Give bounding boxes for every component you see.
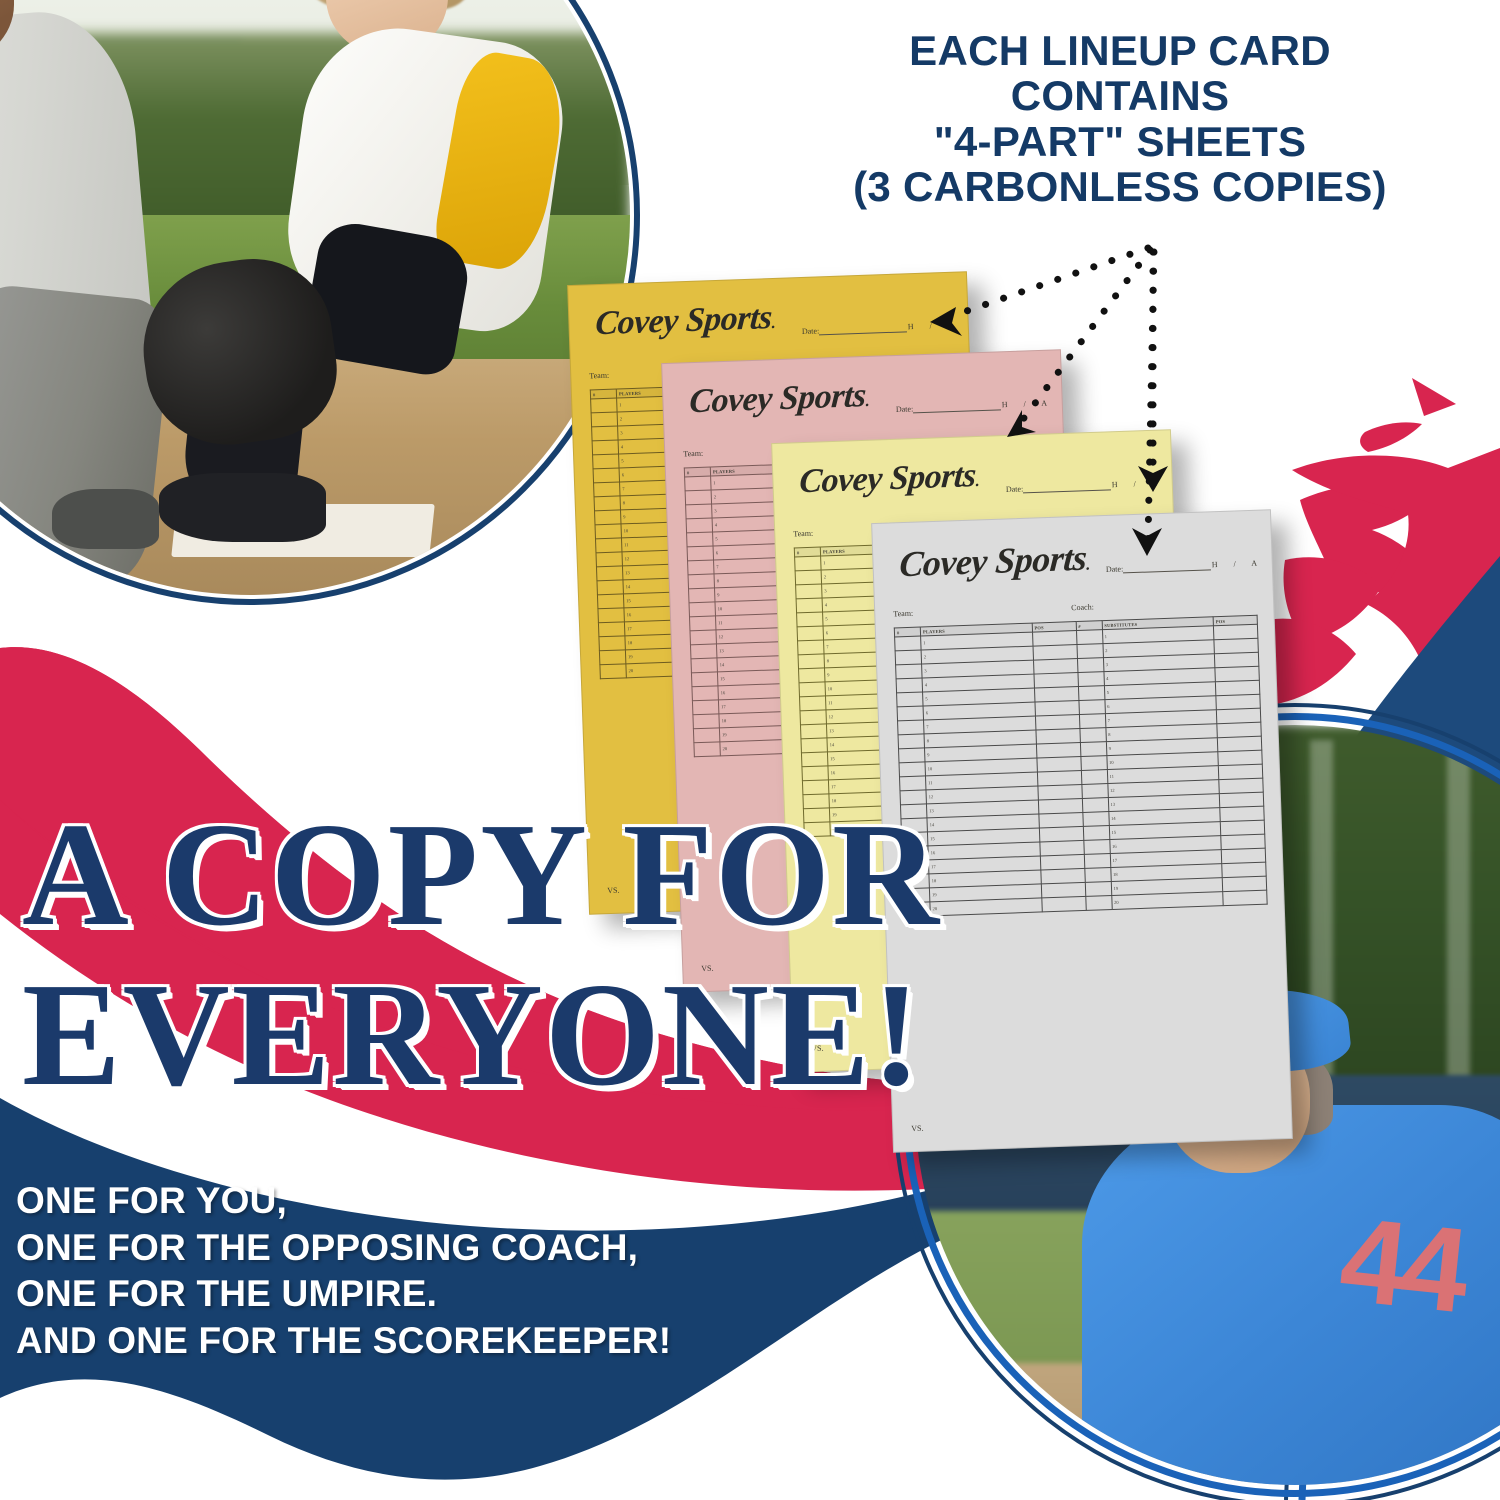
card-row-cell [689, 588, 715, 603]
card-brand-logo: Covey Sports. [898, 536, 1091, 585]
card-row-cell [798, 640, 824, 655]
card-row-cell [694, 742, 720, 757]
benefit-item-2: ONE FOR THE OPPOSING COACH, [16, 1225, 671, 1272]
card-row-cell [899, 776, 925, 791]
card-row-cell [896, 678, 922, 693]
card-row-cell [1078, 686, 1104, 701]
benefit-item-4: AND ONE FOR THE SCOREKEEPER! [16, 1318, 671, 1365]
headline-line-1: A COPY FOR [22, 790, 941, 960]
card-row-cell [1076, 630, 1102, 645]
card-row-cell [1033, 673, 1077, 689]
benefits-list: ONE FOR YOU, ONE FOR THE OPPOSING COACH,… [16, 1178, 671, 1364]
card-row-cell [1079, 728, 1105, 743]
card-vs-field: VS. [911, 1124, 926, 1133]
card-row-cell [898, 734, 924, 749]
card-row-cell [795, 556, 821, 571]
header-line-4: (3 CARBONLESS COPIES) [770, 164, 1470, 209]
card-row-cell [1085, 882, 1111, 897]
card-row-cell [899, 748, 925, 763]
card-team-writeline [813, 529, 815, 538]
card-vs-writeline [923, 1124, 925, 1133]
card-row-cell [1036, 743, 1080, 759]
card-vs-label: VS. [911, 1124, 924, 1133]
card-row-cell [595, 524, 621, 539]
card-brand-period: . [975, 473, 980, 490]
card-row-cell [1219, 778, 1263, 794]
card-row-cell [1083, 826, 1109, 841]
card-row-number: 20 [1111, 892, 1223, 910]
card-row-cell [1082, 812, 1108, 827]
card-row-cell [1084, 868, 1110, 883]
card-brand-logo: Covey Sports. [688, 377, 870, 421]
card-row-cell [593, 454, 619, 469]
card-team-writeline [609, 371, 611, 380]
card-row-cell [1034, 701, 1078, 717]
card-row-cell [693, 714, 719, 729]
card-coach-field: Coach: [1071, 602, 1096, 612]
card-row-cell [1082, 798, 1108, 813]
card-team-writeline [913, 609, 915, 618]
card-row-cell [1084, 854, 1110, 869]
card-row-cell [895, 650, 921, 665]
card-row-cell [1040, 868, 1084, 884]
card-date-label: Date: [802, 326, 820, 336]
card-row-cell [1220, 806, 1264, 822]
card-row-cell [796, 598, 822, 613]
card-team-label: Team: [793, 529, 813, 539]
card-row-cell [688, 574, 714, 589]
card-team-field: Team: [589, 371, 611, 381]
card-row-cell [1078, 700, 1104, 715]
card-row-cell [796, 584, 822, 599]
card-row-cell [1080, 742, 1106, 757]
card-row-cell [689, 602, 715, 617]
card-row-cell [687, 546, 713, 561]
card-row-cell [801, 738, 827, 753]
card-row-cell [591, 412, 617, 427]
card-row-cell [596, 552, 622, 567]
card-brand-logo: Covey Sports. [798, 457, 980, 501]
card-home-away-field: H / A [1112, 478, 1165, 489]
card-row-cell [594, 482, 620, 497]
card-team-field: Team: [793, 529, 815, 539]
card-row-cell [1085, 896, 1111, 911]
card-date-field: Date: [802, 322, 908, 336]
card-row-cell [1039, 826, 1083, 842]
card-row-cell [597, 594, 623, 609]
card-row-cell [593, 468, 619, 483]
card-row-cell [594, 496, 620, 511]
card-row-cell [1222, 862, 1266, 878]
card-row-cell [1080, 756, 1106, 771]
card-date-label: Date: [1106, 564, 1124, 574]
card-row-cell [1083, 840, 1109, 855]
card-date-label: Date: [1006, 484, 1024, 494]
card-home-away-field: H / A [908, 320, 961, 331]
card-row-cell [799, 668, 825, 683]
card-row-cell [690, 630, 716, 645]
benefit-item-3: ONE FOR THE UMPIRE. [16, 1271, 671, 1318]
card-row-cell [1214, 652, 1258, 668]
card-row-cell [1081, 770, 1107, 785]
card-row-number: 20 [930, 898, 1042, 916]
card-date-writeline [819, 322, 907, 335]
card-row-cell [799, 682, 825, 697]
card-date-writeline [1023, 480, 1111, 493]
card-row-cell [800, 710, 826, 725]
card-row-cell [1033, 645, 1077, 661]
card-row-cell [598, 608, 624, 623]
card-row-cell [1081, 784, 1107, 799]
headline-line-2: EVERYONE! [22, 950, 923, 1120]
header-line-3: "4-PART" SHEETS [770, 119, 1470, 164]
card-row-cell [595, 538, 621, 553]
card-date-field: Date: [1106, 560, 1212, 574]
header-line-2: CONTAINS [770, 73, 1470, 118]
card-row-cell [686, 504, 712, 519]
card-team-field: Team: [683, 449, 705, 459]
card-row-cell [797, 612, 823, 627]
card-date-writeline [913, 400, 1001, 413]
card-row-cell [1218, 750, 1262, 766]
card-date-label: Date: [896, 404, 914, 414]
card-row-cell [800, 724, 826, 739]
card-row-cell [899, 762, 925, 777]
card-row-cell [801, 752, 827, 767]
card-row-cell [1077, 658, 1103, 673]
card-row-cell [795, 570, 821, 585]
card-date-writeline [1123, 560, 1211, 573]
marketing-image: 44 Covey Sports.Date: H / ATeam: Coach: … [0, 0, 1500, 1500]
card-brand-period: . [771, 315, 776, 332]
card-row-cell [599, 650, 625, 665]
card-row-cell [591, 398, 617, 413]
card-row-cell [1077, 672, 1103, 687]
card-team-writeline [703, 449, 705, 458]
card-brand-period: . [865, 393, 870, 410]
card-row-cell [599, 636, 625, 651]
card-row-cell [598, 622, 624, 637]
card-row-cell [1076, 644, 1102, 659]
card-row-cell [898, 720, 924, 735]
card-row-cell [1215, 680, 1259, 696]
card-home-away-field: H / A [1212, 558, 1265, 569]
card-coach-label: Coach: [1071, 602, 1094, 612]
benefit-item-1: ONE FOR YOU, [16, 1178, 671, 1225]
card-row-cell [691, 672, 717, 687]
card-brand-logo: Covey Sports. [594, 299, 776, 343]
header-callout: EACH LINEUP CARD CONTAINS "4-PART" SHEET… [770, 28, 1470, 209]
card-date-field: Date: [1006, 480, 1112, 494]
card-row-cell [688, 560, 714, 575]
card-row-cell [1041, 896, 1085, 912]
card-row-cell [687, 532, 713, 547]
card-row-cell [1035, 715, 1079, 731]
card-row-cell [895, 636, 921, 651]
card-row-cell [685, 476, 711, 491]
card-row-cell [1038, 798, 1082, 814]
card-row-cell [1213, 624, 1257, 640]
card-row-cell [689, 616, 715, 631]
header-line-1: EACH LINEUP CARD [770, 28, 1470, 73]
card-row-cell [1079, 714, 1105, 729]
card-row-cell [798, 654, 824, 669]
card-row-cell [1216, 708, 1260, 724]
card-row-cell [1221, 834, 1265, 850]
card-row-cell [1223, 890, 1267, 906]
card-team-label: Team: [893, 609, 913, 619]
card-row-cell [690, 644, 716, 659]
card-row-cell [597, 580, 623, 595]
card-row-cell [691, 658, 717, 673]
card-row-cell [600, 664, 626, 679]
card-row-cell [1037, 771, 1081, 787]
card-row-cell [686, 518, 712, 533]
card-lineup-table: #PLAYERSPOS#SUBSTITUTESPOS11223344556677… [894, 615, 1268, 918]
card-row-cell [897, 706, 923, 721]
card-home-away-field: H / A [1002, 398, 1055, 409]
card-row-cell [799, 696, 825, 711]
card-date-field: Date: [896, 400, 1002, 414]
card-row-cell [896, 664, 922, 679]
card-row-cell [897, 692, 923, 707]
card-brand-period: . [1085, 557, 1090, 574]
card-row-cell [592, 440, 618, 455]
card-row-cell [592, 426, 618, 441]
card-row-cell [692, 686, 718, 701]
card-row-cell [692, 700, 718, 715]
card-row-cell [802, 766, 828, 781]
card-row-cell [1040, 854, 1084, 870]
card-team-label: Team: [589, 371, 609, 381]
card-row-cell [693, 728, 719, 743]
card-team-label: Team: [683, 449, 703, 459]
card-coach-writeline [1094, 602, 1096, 611]
card-row-cell [797, 626, 823, 641]
card-row-cell [595, 510, 621, 525]
card-team-field: Team: [893, 609, 915, 619]
card-row-cell [596, 566, 622, 581]
card-row-cell [685, 490, 711, 505]
